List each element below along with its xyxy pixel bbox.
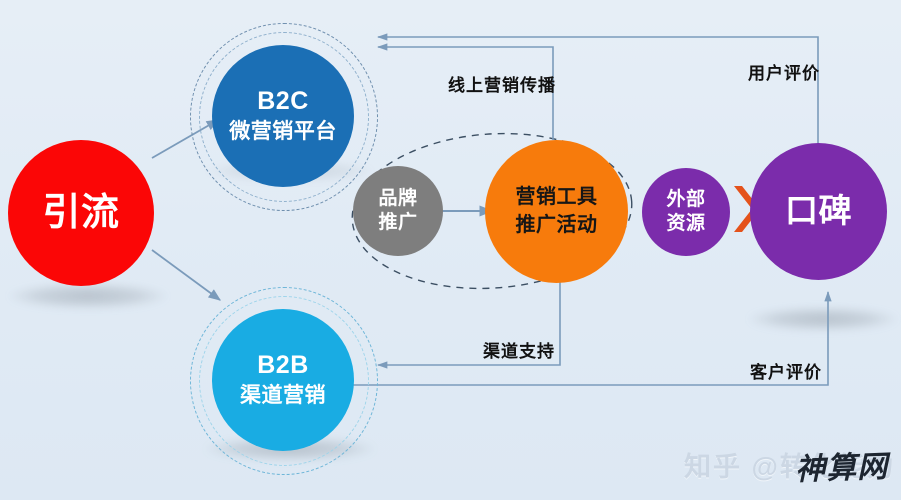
node-b2b-label-2: 渠道营销 [240,384,326,409]
node-brand[interactable]: 品牌 推广 [353,166,443,256]
node-external[interactable]: 外部 资源 [642,168,730,256]
node-traffic[interactable]: 引流 [8,140,154,286]
node-tools-label-1: 营销工具 [516,186,598,210]
label-online-marketing: 线上营销传播 [448,71,556,96]
node-b2c-label-1: B2C [257,87,309,117]
label-user-review: 用户评价 [748,59,820,84]
wire-reputation-to-b2c [378,37,818,145]
watermark-overlay: 神算网 [794,441,888,488]
node-b2b-label-1: B2B [257,351,309,381]
node-reputation-label: 口碑 [785,192,852,231]
node-tools-label-2: 推广活动 [516,214,598,238]
diagram-canvas: 引流 B2C 微营销平台 B2B 渠道营销 品牌 推广 营销工具 推广活动 外部… [0,0,901,500]
node-brand-label-1: 品牌 [378,188,417,210]
node-b2c-label-2: 微营销平台 [229,120,337,145]
node-brand-label-2: 推广 [378,212,417,234]
wire-traffic-to-b2b [152,250,220,300]
node-external-label-1: 外部 [666,189,705,211]
node-b2c[interactable]: B2C 微营销平台 [212,45,354,187]
label-channel-support: 渠道支持 [483,337,555,362]
node-tools[interactable]: 营销工具 推广活动 [485,140,628,283]
wire-traffic-to-b2c [152,120,218,158]
node-traffic-label: 引流 [42,191,119,236]
node-b2b[interactable]: B2B 渠道营销 [212,309,354,451]
label-customer-review: 客户评价 [750,358,822,383]
node-external-label-2: 资源 [666,213,705,235]
node-reputation[interactable]: 口碑 [750,143,887,280]
